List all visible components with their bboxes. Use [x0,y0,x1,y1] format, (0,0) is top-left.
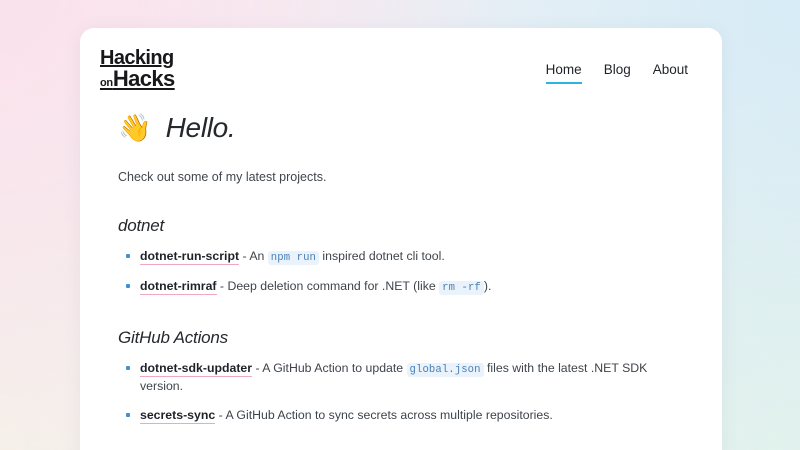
intro-text: Check out some of my latest projects. [118,170,684,184]
waving-hand-icon: 👋 [118,115,152,142]
separator-text: - [215,408,225,422]
separator-text: - [239,249,249,263]
bullet-icon [126,413,130,417]
list-item: dotnet-run-script - An npm run inspired … [118,248,684,266]
inline-code: npm run [268,251,319,265]
item-text-before: A GitHub Action to update [262,361,406,375]
bullet-icon [126,284,130,288]
list-item: dotnet-sdk-updater - A GitHub Action to … [118,360,684,396]
item-text-before: A GitHub Action to sync secrets across m… [225,408,552,422]
page-root: Hacking onHacks Home Blog About 👋 Hello.… [0,0,800,450]
main-content: 👋 Hello. Check out some of my latest pro… [100,112,694,450]
logo-on-text: on [100,77,113,89]
inline-code: global.json [407,363,484,377]
logo-hacks-text: Hacks [113,66,175,91]
item-text-before: Deep deletion command for .NET (like [227,279,439,293]
project-list-github-actions: dotnet-sdk-updater - A GitHub Action to … [118,360,684,425]
logo-line-two: onHacks [100,69,175,89]
item-text-after: ). [484,279,492,293]
hero-heading: 👋 Hello. [118,112,684,144]
main-nav: Home Blog About [546,50,694,84]
nav-item-about[interactable]: About [653,62,688,84]
page-title: Hello. [166,112,236,144]
separator-text: - [252,361,262,375]
section-title-dotnet: dotnet [118,216,684,236]
section-title-github-actions: GitHub Actions [118,328,684,348]
bullet-icon [126,366,130,370]
nav-item-blog[interactable]: Blog [604,62,631,84]
list-item: secrets-sync - A GitHub Action to sync s… [118,407,684,425]
site-header: Hacking onHacks Home Blog About [100,50,694,88]
item-text-before: An [249,249,267,263]
nav-item-home[interactable]: Home [546,62,582,84]
bullet-icon [126,254,130,258]
list-item: dotnet-rimraf - Deep deletion command fo… [118,278,684,296]
project-link[interactable]: secrets-sync [140,408,215,424]
project-link[interactable]: dotnet-run-script [140,249,239,265]
inline-code: rm -rf [439,281,484,295]
item-text-after: inspired dotnet cli tool. [319,249,445,263]
project-link[interactable]: dotnet-rimraf [140,279,217,295]
project-link[interactable]: dotnet-sdk-updater [140,361,252,377]
separator-text: - [217,279,228,293]
project-list-dotnet: dotnet-run-script - An npm run inspired … [118,248,684,296]
site-logo[interactable]: Hacking onHacks [100,50,175,88]
content-card: Hacking onHacks Home Blog About 👋 Hello.… [80,28,722,450]
